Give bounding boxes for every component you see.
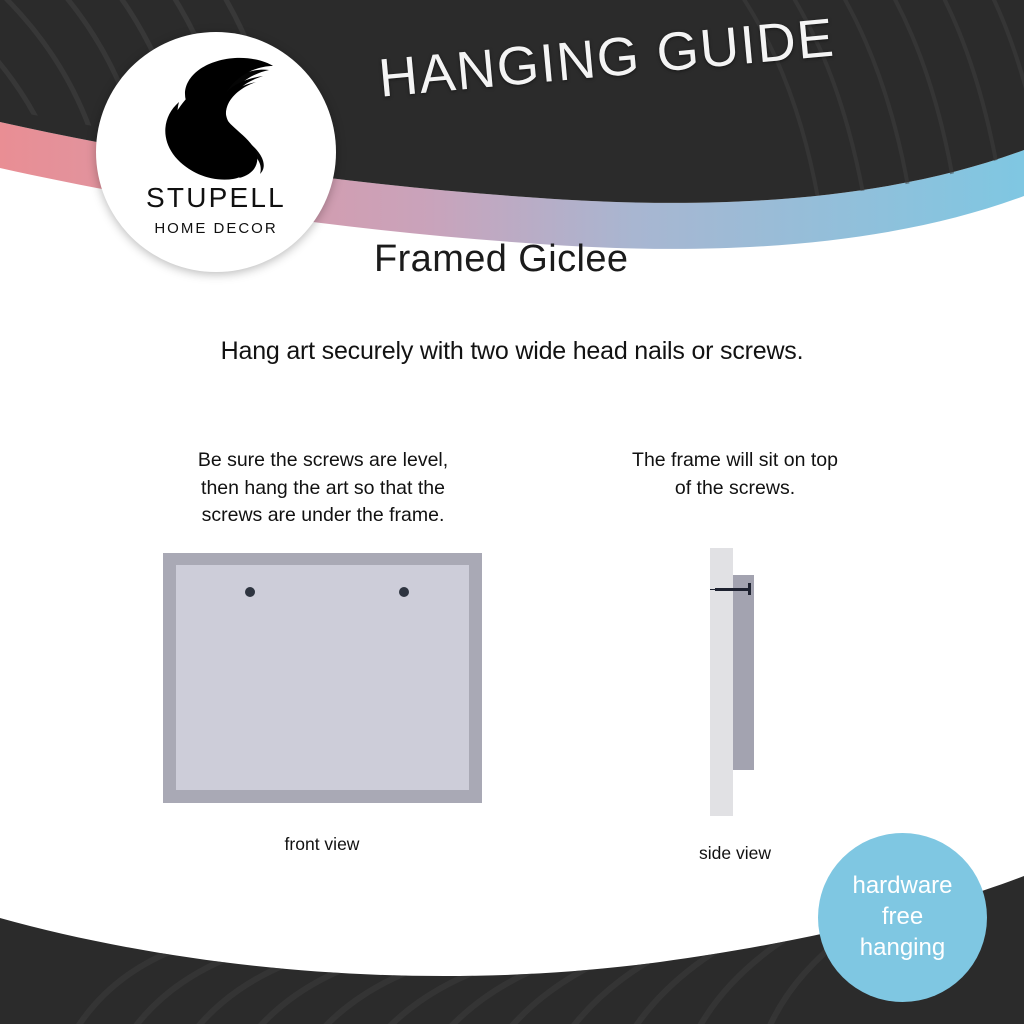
brand-name: STUPELL xyxy=(146,184,286,212)
badge-line: free xyxy=(882,902,923,933)
hanging-guide-page: HANGING GUIDE STUPELL HOME DECOR Framed … xyxy=(0,0,1024,1024)
brand-logo-badge: STUPELL HOME DECOR xyxy=(96,32,336,272)
side-view-label: side view xyxy=(615,843,855,864)
frame-edge-strip xyxy=(733,575,754,770)
hardware-free-hanging-badge: hardware free hanging xyxy=(818,833,987,1002)
screw-left-icon xyxy=(245,587,255,597)
screw-right-icon xyxy=(399,587,409,597)
brand-tagline: HOME DECOR xyxy=(154,221,277,236)
lead-instruction-text: Hang art securely with two wide head nai… xyxy=(0,337,1024,366)
side-view-frame-diagram xyxy=(700,548,772,816)
front-view-label: front view xyxy=(182,834,462,855)
stupell-s-swoosh-logo xyxy=(157,54,275,180)
caption-line: Be sure the screws are level, xyxy=(152,447,494,475)
nail-shaft-icon xyxy=(715,588,750,591)
product-type-title: Framed Giclee xyxy=(374,238,628,281)
front-view-frame-diagram xyxy=(163,553,482,803)
front-view-caption: Be sure the screws are level, then hang … xyxy=(152,447,494,530)
badge-line: hanging xyxy=(860,933,945,964)
page-title: HANGING GUIDE xyxy=(376,1,899,110)
caption-line: The frame will sit on top xyxy=(596,447,874,475)
frame-inner-matte xyxy=(176,565,469,790)
badge-line: hardware xyxy=(852,871,952,902)
nail-head-icon xyxy=(748,583,751,595)
side-view-caption: The frame will sit on top of the screws. xyxy=(596,447,874,502)
caption-line: then hang the art so that the xyxy=(152,475,494,503)
caption-line: of the screws. xyxy=(596,475,874,503)
caption-line: screws are under the frame. xyxy=(152,502,494,530)
